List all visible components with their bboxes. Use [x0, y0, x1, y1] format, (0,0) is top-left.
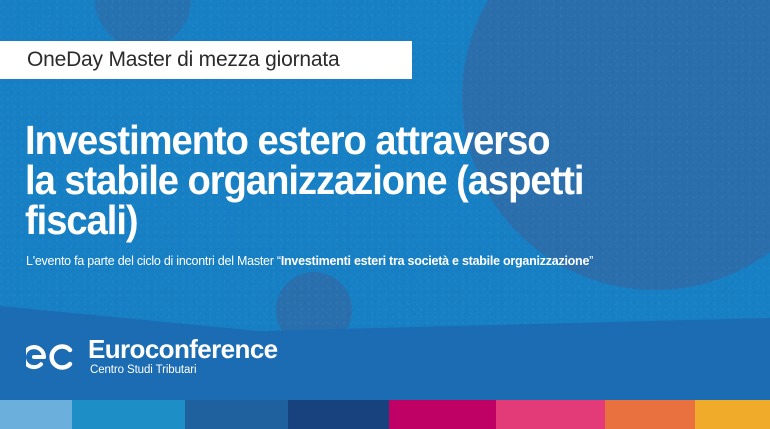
logo-wordmark: Euroconference Centro Studi Tributari — [88, 336, 278, 377]
brand-logo: Euroconference Centro Studi Tributari — [26, 336, 278, 377]
color-swatch-orange — [605, 400, 695, 429]
subtitle: L'evento fa parte del ciclo di incontri … — [26, 254, 593, 268]
headline-line-3: fiscali) — [25, 197, 138, 243]
color-swatch-magenta — [389, 400, 496, 429]
color-swatch-navy — [288, 400, 389, 429]
decorative-circle-small — [276, 272, 352, 348]
color-swatch-light-blue — [0, 400, 72, 429]
logo-name: Euroconference — [88, 336, 278, 362]
color-strip — [0, 400, 770, 429]
event-banner: OneDay Master di mezza giornata Investim… — [0, 0, 770, 429]
color-swatch-pink — [496, 400, 605, 429]
page-title: Investimento estero attraverso la stabil… — [25, 120, 695, 240]
ec-monogram-icon — [26, 339, 78, 375]
eyebrow-label: OneDay Master di mezza giornata — [0, 41, 412, 79]
subtitle-master-name: Investimenti esteri tra società e stabil… — [281, 254, 589, 268]
color-swatch-amber — [695, 400, 770, 429]
subtitle-trail: ” — [589, 254, 593, 268]
color-swatch-medium-blue — [185, 400, 288, 429]
eyebrow-label-text: OneDay Master di mezza giornata — [27, 48, 339, 72]
logo-tagline: Centro Studi Tributari — [88, 363, 278, 377]
color-swatch-blue — [72, 400, 185, 429]
subtitle-lead: L'evento fa parte del ciclo di incontri … — [26, 254, 281, 268]
